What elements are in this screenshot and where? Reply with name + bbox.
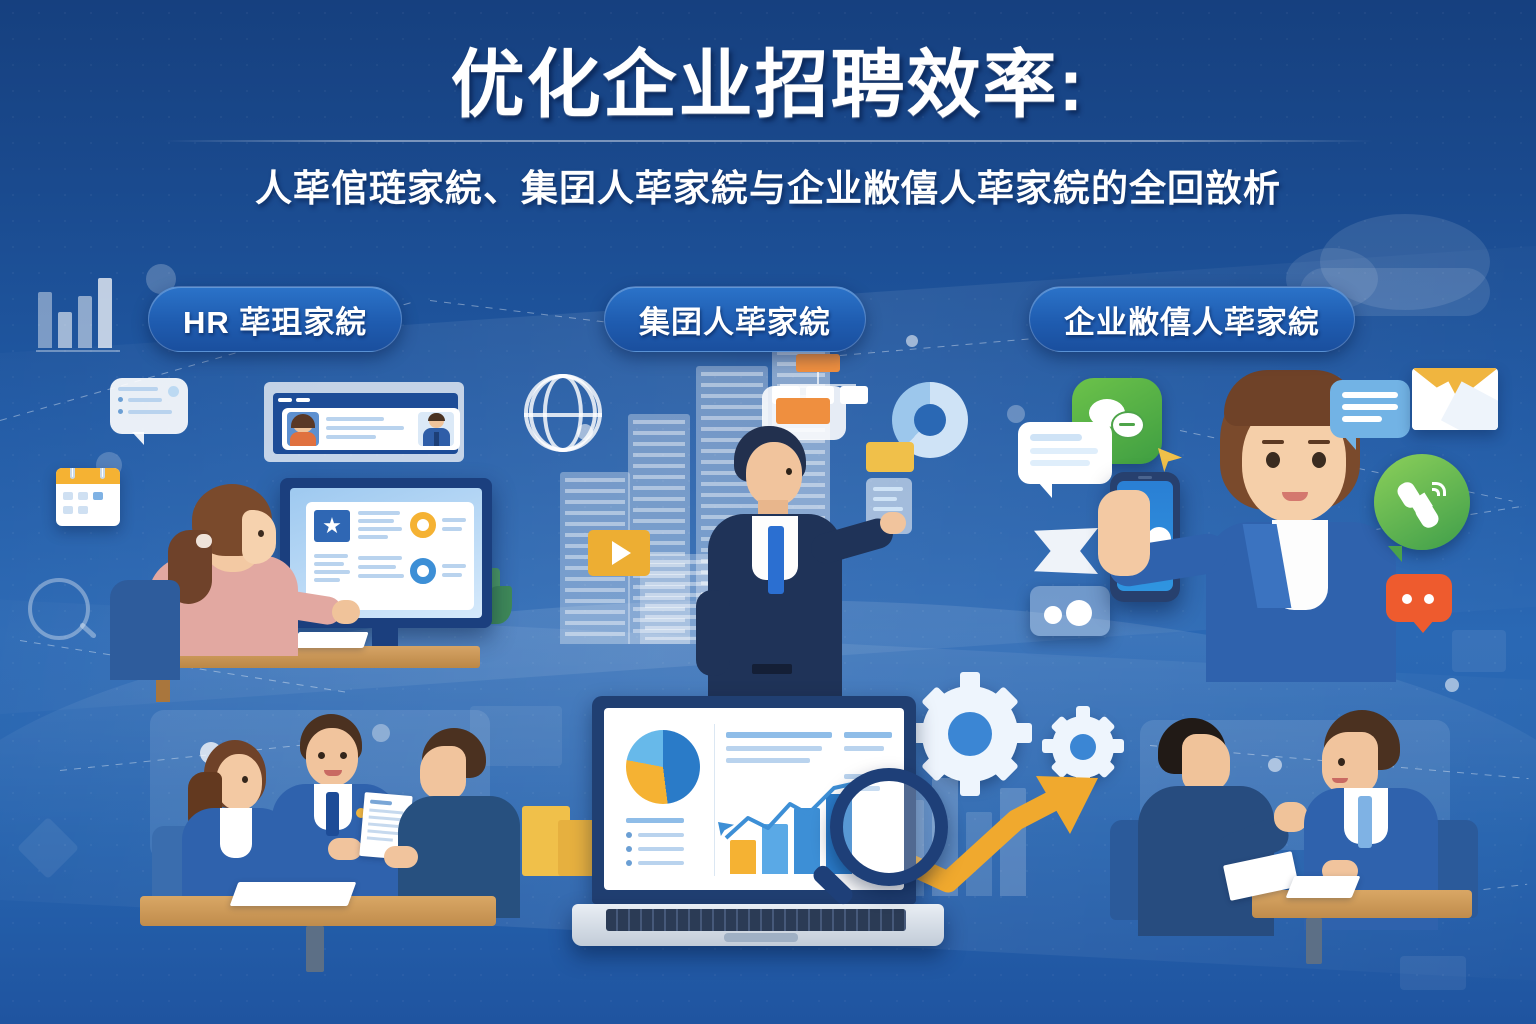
gear-tooth — [1042, 739, 1058, 753]
bubble-line — [1030, 460, 1090, 466]
globe-icon — [524, 374, 602, 452]
face — [216, 754, 262, 810]
face — [1182, 734, 1230, 792]
avatar — [287, 412, 319, 446]
businessman-presenter — [690, 426, 890, 696]
report-line — [638, 833, 684, 837]
recruiter-hand — [332, 600, 360, 624]
gear-hole — [1070, 734, 1096, 760]
content-line — [358, 565, 396, 569]
poster-header: 优化企业招聘效率: 人荜倌琏家綄、集囝人荜家綄与企业敝僖人荜家綄的全回敨析 — [0, 0, 1536, 250]
badge-hr-system-label: HR 荜珇家綄 — [183, 297, 367, 342]
laptop-base — [572, 904, 944, 946]
donut-chart-blue — [410, 558, 436, 584]
badge-hr-system[interactable]: HR 荜珇家綄 — [148, 286, 402, 352]
content-line — [358, 511, 400, 515]
magnifier-icon — [830, 768, 948, 886]
presenter-hand — [880, 512, 906, 534]
avatar — [418, 412, 454, 446]
hand — [328, 838, 362, 860]
content-line — [442, 564, 466, 568]
badge-row: HR 荜珇家綄 集囝人荜家綄 企业敝僖人荜家綄 — [0, 286, 1536, 358]
play-button-icon — [588, 530, 650, 576]
report-bullet — [626, 846, 632, 852]
desk-leg — [1306, 918, 1322, 964]
content-line — [358, 556, 402, 560]
card-text-line — [118, 397, 123, 402]
gear-hole — [948, 712, 992, 756]
report-bullet — [626, 860, 632, 866]
card-text-line — [118, 409, 123, 414]
tie — [326, 792, 339, 836]
gear-tooth — [1010, 723, 1032, 743]
recruiter-hair-tie — [196, 534, 212, 548]
search-icon-handle — [79, 622, 97, 639]
report-line — [726, 732, 832, 738]
professional-eye-left — [1266, 452, 1280, 468]
wechat-hr-scene — [1000, 360, 1536, 680]
bubble-line — [1030, 434, 1082, 441]
content-line — [442, 518, 466, 522]
pie-chart — [626, 730, 700, 804]
report-line — [726, 758, 810, 763]
title-divider — [163, 140, 1373, 142]
content-line — [358, 574, 404, 578]
mouth — [1332, 778, 1348, 783]
photo-bubble-icon — [1030, 586, 1110, 636]
table-leg — [306, 926, 324, 972]
eye — [242, 776, 248, 783]
badge-enterprise-wechat-hr-system-label: 企业敝僖人荜家綄 — [1064, 297, 1320, 342]
interview-panel-scene — [140, 700, 500, 980]
recruiter-eye — [258, 530, 264, 537]
face — [306, 728, 358, 786]
gear-tooth — [989, 686, 1019, 716]
eye-left — [318, 752, 325, 759]
document — [1286, 876, 1361, 898]
office-chair — [110, 580, 180, 680]
eye — [1338, 758, 1345, 766]
report-line — [626, 818, 684, 823]
chat-bubble-icon — [1018, 422, 1112, 484]
analytics-laptop-scene — [500, 660, 1160, 960]
report-line — [726, 746, 822, 751]
orange-bubble-icon — [1386, 574, 1452, 622]
face — [1322, 732, 1378, 794]
chat-card-icon — [110, 378, 188, 434]
presenter-eye — [786, 468, 792, 475]
monitor-content-card: ★ — [306, 502, 474, 610]
row-text-line — [326, 417, 384, 421]
one-on-one-interview-scene — [1110, 700, 1480, 980]
hand — [384, 846, 418, 868]
report-line — [638, 861, 684, 865]
donut-chart-yellow — [410, 512, 436, 538]
report-line — [638, 847, 684, 851]
content-line — [358, 535, 388, 539]
corporate-group-scene — [500, 330, 980, 690]
professional-eye-right — [1312, 452, 1326, 468]
row-text-line — [326, 426, 404, 430]
calendar-icon — [56, 468, 120, 526]
search-icon — [28, 578, 90, 640]
card-dot — [168, 386, 179, 397]
presenter-tie — [768, 526, 784, 594]
bubble-line — [1030, 448, 1098, 454]
poster-canvas: ★ — [0, 0, 1536, 1024]
shirt — [220, 808, 252, 858]
tie — [1358, 796, 1372, 848]
badge-enterprise-wechat-hr-system[interactable]: 企业敝僖人荜家綄 — [1029, 286, 1355, 352]
donut-chart-hole — [914, 404, 946, 436]
card-text-line — [118, 387, 158, 391]
badge-group-hr-system-label: 集囝人荜家綄 — [639, 297, 831, 342]
gear-tooth — [1076, 706, 1090, 722]
gear-tooth — [1050, 715, 1071, 736]
candidate-row — [282, 408, 460, 450]
face — [420, 746, 466, 800]
envelope-icon — [1412, 368, 1498, 430]
globe-equator — [524, 413, 602, 417]
gear-tooth — [921, 686, 951, 716]
report-bullet — [626, 832, 632, 838]
cursor-icon — [1158, 448, 1182, 472]
laptop-keyboard — [606, 909, 906, 931]
report-line — [844, 732, 892, 738]
recruiter-face-front — [242, 510, 276, 564]
content-line — [358, 527, 402, 531]
decorative-square — [17, 817, 79, 879]
professional-brow-right — [1308, 440, 1330, 444]
badge-group-hr-system[interactable]: 集囝人荜家綄 — [604, 286, 866, 352]
content-line — [442, 573, 462, 577]
desk — [1252, 890, 1472, 918]
card-text-line — [128, 398, 162, 402]
report-line — [844, 746, 884, 751]
card-text-line — [128, 410, 172, 414]
content-line — [442, 527, 462, 531]
presenter-face — [746, 442, 802, 506]
page-title: 优化企业招聘效率: — [0, 46, 1536, 124]
page-subtitle: 人荜倌琏家綄、集囝人荜家綄与企业敝僖人荜家綄的全回敨析 — [0, 158, 1536, 212]
phone-call-icon[interactable] — [1374, 454, 1470, 550]
blue-chat-icon — [1330, 380, 1410, 438]
gear-tooth — [960, 672, 980, 694]
content-line — [358, 519, 394, 523]
candidate-profile-window — [264, 382, 464, 462]
laptop-touchpad — [724, 933, 798, 942]
row-text-line — [326, 435, 376, 439]
megaphone-icon — [1034, 528, 1098, 574]
network-node — [1445, 678, 1459, 692]
eye-right — [340, 752, 347, 759]
professional-brow-left — [1262, 440, 1284, 444]
professional-hand — [1098, 490, 1150, 576]
table-paper — [230, 882, 357, 906]
